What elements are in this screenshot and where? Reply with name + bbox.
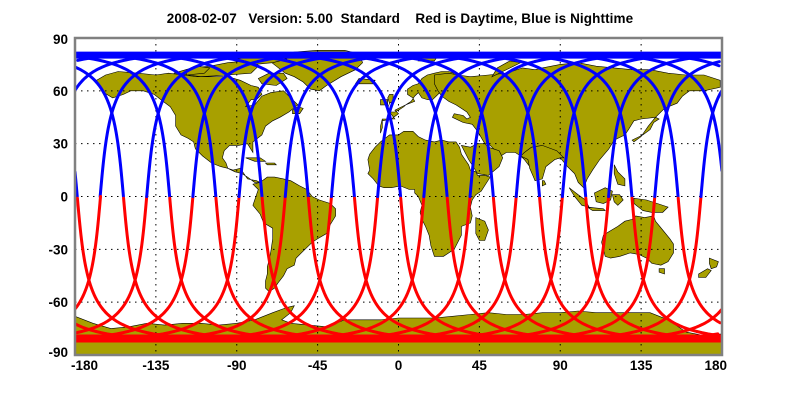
y-tick-label: 60: [53, 84, 68, 99]
y-axis-labels: 9060300-30-60-90: [48, 32, 68, 360]
y-tick-label: -30: [48, 242, 68, 257]
ground-track-map: 2008-02-07 Version: 5.00 Standard Red is…: [0, 0, 800, 400]
y-tick-label: 30: [53, 137, 68, 152]
x-tick-label: -90: [227, 358, 247, 373]
map-svg: -180-135-90-4504590135180 9060300-30-60-…: [0, 0, 800, 400]
x-axis-labels: -180-135-90-4504590135180: [71, 358, 727, 373]
x-tick-label: 135: [630, 358, 653, 373]
x-tick-label: 180: [704, 358, 727, 373]
x-tick-label: 0: [395, 358, 403, 373]
x-tick-label: -135: [142, 358, 170, 373]
x-tick-label: -180: [71, 358, 98, 373]
x-tick-label: 45: [472, 358, 488, 373]
x-tick-label: -45: [308, 358, 328, 373]
y-tick-label: 0: [60, 190, 68, 205]
plot-area: -180-135-90-4504590135180 9060300-30-60-…: [0, 0, 800, 400]
y-tick-label: 90: [53, 32, 68, 47]
y-tick-label: -90: [48, 345, 68, 360]
x-tick-label: 90: [553, 358, 568, 373]
land-hispaniola: [266, 163, 277, 165]
y-tick-label: -60: [48, 295, 68, 310]
